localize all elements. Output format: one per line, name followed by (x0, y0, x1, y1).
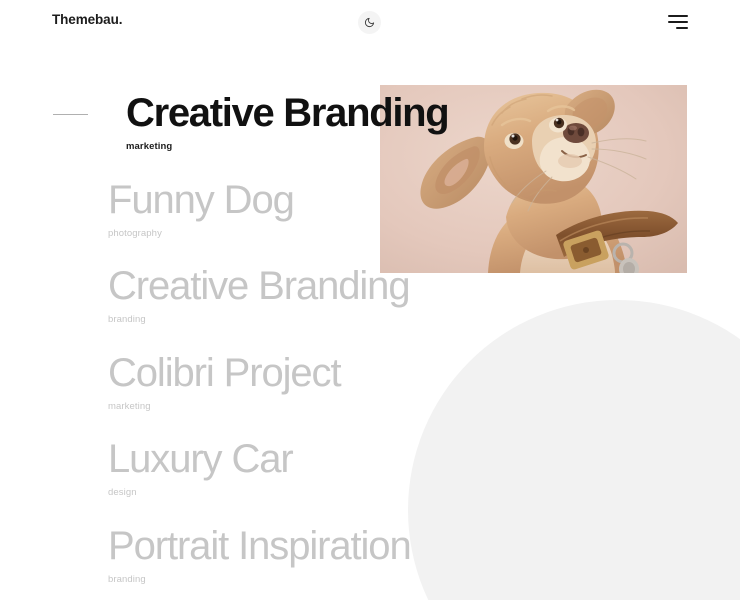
portfolio-item-colibri-project[interactable]: Colibri Project marketing (0, 346, 740, 433)
portfolio-item-link[interactable]: Funny Dog photography (0, 173, 740, 240)
portfolio-item-link[interactable]: Colibri Project marketing (0, 346, 740, 413)
portfolio-item-link[interactable]: Creative Branding marketing (0, 86, 740, 153)
portfolio-item-portrait-inspiration[interactable]: Portrait Inspiration branding (0, 519, 740, 599)
portfolio-item-title: Portrait Inspiration (108, 519, 740, 573)
hamburger-menu-icon-bar-3 (676, 27, 688, 29)
portfolio-item-category: marketing (126, 141, 740, 153)
dark-mode-toggle-button[interactable] (358, 11, 381, 34)
portfolio-item-title: Creative Branding (126, 86, 740, 140)
portfolio-item-link[interactable]: Portrait Inspiration branding (0, 519, 740, 586)
portfolio-item-funny-dog[interactable]: Funny Dog photography (0, 173, 740, 260)
portfolio-item-title: Creative Branding (108, 259, 740, 313)
portfolio-item-luxury-car[interactable]: Luxury Car design (0, 432, 740, 519)
site-logo[interactable]: Themebau. (52, 13, 122, 27)
portfolio-item-category: photography (108, 228, 740, 240)
portfolio-item-title: Luxury Car (108, 432, 740, 486)
portfolio-item-category: branding (108, 574, 740, 586)
moon-icon (364, 17, 375, 28)
hamburger-menu-button[interactable] (666, 12, 688, 32)
hamburger-menu-icon-bar-2 (668, 21, 688, 23)
portfolio-item-creative-branding-active[interactable]: Creative Branding marketing (0, 86, 740, 173)
portfolio-item-category: design (108, 487, 740, 499)
portfolio-item-link[interactable]: Luxury Car design (0, 432, 740, 499)
portfolio-item-category: marketing (108, 401, 740, 413)
portfolio-item-link[interactable]: Creative Branding branding (0, 259, 740, 326)
hamburger-menu-icon-bar-1 (668, 15, 688, 17)
portfolio-item-creative-branding[interactable]: Creative Branding branding (0, 259, 740, 346)
site-header: Themebau. (0, 0, 740, 46)
portfolio-item-title: Colibri Project (108, 346, 740, 400)
portfolio-item-title: Funny Dog (108, 173, 740, 227)
portfolio-project-list: Creative Branding marketing Funny Dog ph… (0, 86, 740, 599)
portfolio-item-category: branding (108, 314, 740, 326)
